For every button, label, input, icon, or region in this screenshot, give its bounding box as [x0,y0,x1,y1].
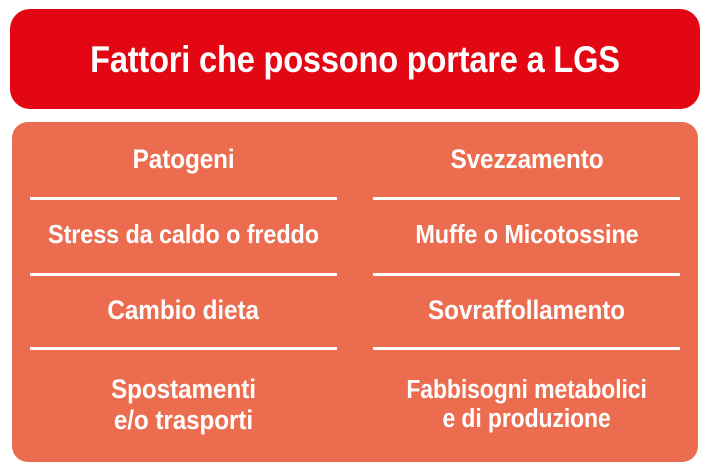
list-item-label: Spostamenti e/o trasporti [111,374,256,434]
header-card: Fattori che possono portare a LGS [10,9,700,109]
list-item: Sovraffollamento [373,273,680,347]
row-divider [30,347,337,350]
row-divider [373,347,680,350]
list-item-label: Muffe o Micotossine [415,220,638,249]
page-title: Fattori che possono portare a LGS [90,41,620,78]
list-item: Patogeni [30,122,337,197]
list-item-label: Svezzamento [450,144,603,174]
list-item-label: Cambio dieta [108,295,259,325]
list-item: Cambio dieta [30,273,337,347]
row-divider [30,197,337,200]
left-column: Patogeni Stress da caldo o freddo Cambio… [12,122,355,462]
list-item: Stress da caldo o freddo [30,197,337,273]
row-divider [30,273,337,276]
infographic-root: Fattori che possono portare a LGS Patoge… [0,0,709,472]
list-item-label: Sovraffollamento [428,295,625,325]
list-item-label: Patogeni [133,144,235,174]
list-item: Muffe o Micotossine [373,197,680,273]
list-item: Svezzamento [373,122,680,197]
right-column: Svezzamento Muffe o Micotossine Sovraffo… [355,122,698,462]
row-divider [373,273,680,276]
list-item: Fabbisogni metabolici e di produzione [373,347,680,462]
row-divider [373,197,680,200]
list-item-label: Fabbisogni metabolici e di produzione [406,376,646,433]
list-item: Spostamenti e/o trasporti [30,347,337,462]
list-item-label: Stress da caldo o freddo [48,220,319,249]
factors-card: Patogeni Stress da caldo o freddo Cambio… [12,122,698,462]
